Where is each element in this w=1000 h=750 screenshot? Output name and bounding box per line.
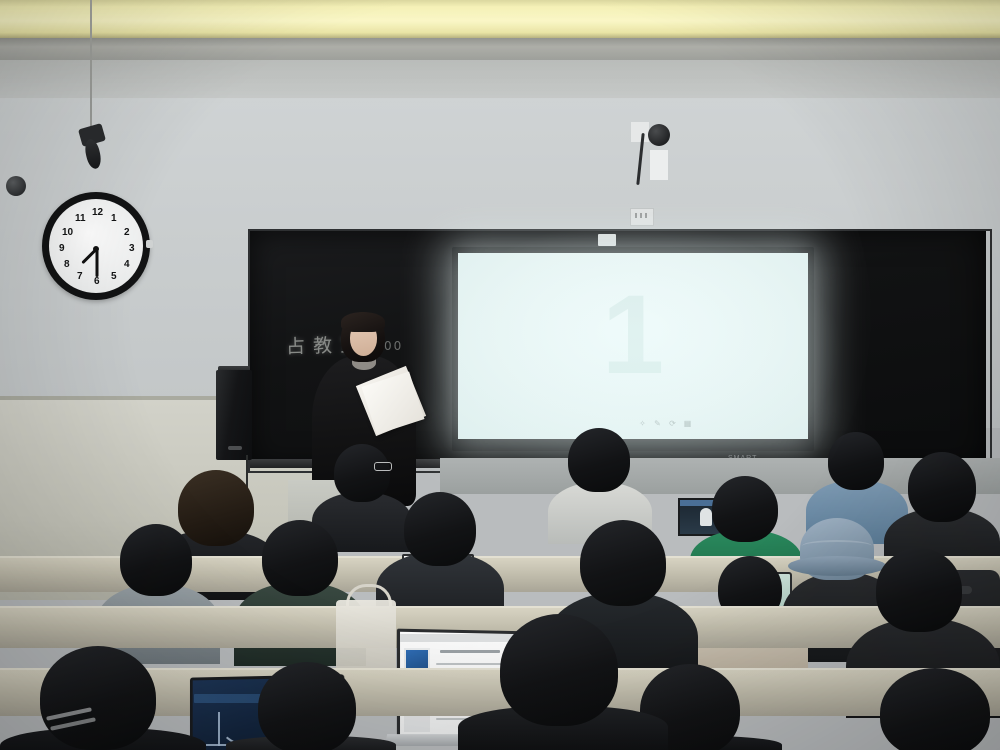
clock-face: 12 1 2 3 4 5 6 7 8 9 10 11 bbox=[49, 199, 143, 293]
camera-lens-icon bbox=[648, 124, 670, 146]
wall-camera bbox=[650, 150, 668, 180]
student-head bbox=[828, 432, 884, 490]
hat-band bbox=[802, 540, 872, 552]
ceiling-light-strip bbox=[0, 0, 1000, 38]
student-head bbox=[120, 524, 192, 596]
teacher-fringe bbox=[341, 312, 385, 332]
refresh-icon[interactable]: ⟳ bbox=[668, 419, 677, 428]
clock-numeral-8: 8 bbox=[64, 260, 70, 270]
tote-bag bbox=[336, 600, 396, 676]
clock-numeral-2: 2 bbox=[124, 228, 130, 238]
student-head bbox=[178, 470, 254, 546]
student-head bbox=[880, 668, 990, 750]
student-head bbox=[258, 662, 356, 750]
screen-toolbar[interactable]: ✧ ✎ ⟳ ▦ bbox=[638, 417, 708, 429]
ceiling-beam bbox=[0, 38, 1000, 60]
clock-numeral-1: 1 bbox=[111, 214, 117, 224]
student-head bbox=[500, 614, 618, 726]
student-head bbox=[404, 492, 476, 566]
clock-numeral-9: 9 bbox=[59, 244, 65, 254]
speaker-logo bbox=[228, 446, 242, 450]
pointer-icon[interactable]: ✧ bbox=[638, 419, 647, 428]
clock-numeral-12: 12 bbox=[92, 208, 103, 218]
grid-icon[interactable]: ▦ bbox=[683, 419, 692, 428]
outlet-slots-icon bbox=[635, 213, 647, 218]
clock-numeral-3: 3 bbox=[129, 244, 135, 254]
document-title-line bbox=[440, 650, 500, 653]
pen-icon[interactable]: ✎ bbox=[653, 419, 662, 428]
clock-numeral-5: 5 bbox=[111, 272, 117, 282]
wall-clock: 12 1 2 3 4 5 6 7 8 9 10 11 bbox=[42, 192, 150, 300]
laptop-toolbar[interactable] bbox=[400, 634, 518, 642]
microphone-cable bbox=[90, 0, 92, 130]
student-head bbox=[40, 646, 156, 750]
ceiling-panel bbox=[0, 60, 1000, 98]
wall-sensor-icon bbox=[6, 176, 26, 196]
clock-side-nub bbox=[146, 240, 153, 248]
board-clip bbox=[598, 234, 616, 246]
clock-numeral-10: 10 bbox=[62, 228, 73, 238]
student-head bbox=[334, 444, 390, 502]
student-head bbox=[580, 520, 666, 606]
lecture-hall-photo: 12 1 2 3 4 5 6 7 8 9 10 11 占教室 :00 1 ✧ ✎ bbox=[0, 0, 1000, 750]
clock-numeral-6: 6 bbox=[94, 277, 100, 287]
clock-numeral-4: 4 bbox=[124, 260, 130, 270]
clock-minute-hand bbox=[96, 249, 99, 277]
projection-screen[interactable]: 1 ✧ ✎ ⟳ ▦ bbox=[458, 253, 808, 439]
clock-center-pin bbox=[93, 246, 99, 252]
student-head bbox=[908, 452, 976, 522]
clock-numeral-7: 7 bbox=[77, 272, 83, 282]
student-head bbox=[568, 428, 630, 492]
clock-numeral-11: 11 bbox=[75, 214, 86, 224]
glasses-icon bbox=[374, 462, 392, 471]
slide-digit: 1 bbox=[458, 279, 808, 391]
student-head bbox=[712, 476, 778, 542]
student-head bbox=[262, 520, 338, 596]
monitor-content bbox=[700, 508, 712, 526]
student-head bbox=[876, 548, 962, 632]
hat-brim bbox=[788, 556, 886, 576]
